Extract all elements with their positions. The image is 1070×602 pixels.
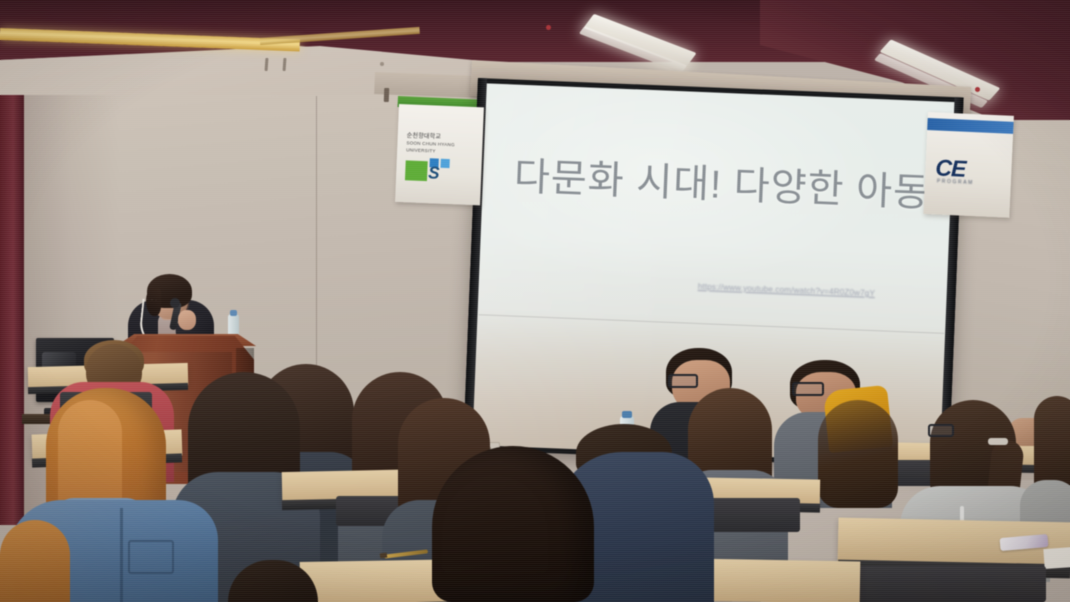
wall-seam — [316, 96, 317, 396]
water-bottle-cap — [230, 310, 237, 316]
hair-clip — [988, 438, 1008, 445]
banner-english-line1: SOON CHUN HYANG — [406, 140, 455, 147]
banner-logo-mark: S — [428, 163, 440, 183]
program-banner-right: CE PROGRAM — [923, 112, 1014, 218]
housing-slot — [384, 88, 389, 102]
student-hair-ponytail — [818, 400, 898, 508]
water-bottle-cap — [622, 411, 632, 418]
banner-logo-blue-block — [440, 159, 449, 168]
lecture-hall-photograph: 다문화 시대! 다양한 아동!! https://www.youtube.com… — [0, 0, 1070, 602]
speaker-hand — [178, 310, 196, 330]
banner-korean-name: 순천향대학교 — [407, 130, 442, 140]
denim-seam — [120, 508, 123, 602]
banner-header-bar — [927, 118, 1013, 134]
microphone-head — [170, 298, 180, 308]
student-hair-foreground — [432, 446, 594, 602]
pillar-left — [0, 95, 24, 525]
ceiling-indicator-light — [975, 87, 980, 92]
desk — [690, 559, 861, 602]
ceiling-indicator-light — [546, 25, 551, 30]
glasses-icon — [928, 424, 954, 437]
banner-subtitle: PROGRAM — [937, 178, 974, 186]
banner-english-line2: UNIVERSITY — [406, 147, 436, 153]
denim-pocket — [128, 540, 174, 574]
glasses-icon — [792, 382, 824, 396]
glasses-icon — [668, 374, 698, 388]
screen-housing-left — [374, 72, 485, 98]
university-banner-left: 순천향대학교 SOON CHUN HYANG UNIVERSITY S — [395, 104, 484, 205]
paper-sheet — [1043, 547, 1070, 569]
banner-logo-green-block — [405, 160, 428, 181]
ceiling-fixture-dot — [380, 62, 384, 66]
chair — [836, 566, 1046, 602]
student-hair — [0, 520, 70, 602]
pencil-tip — [380, 553, 388, 559]
